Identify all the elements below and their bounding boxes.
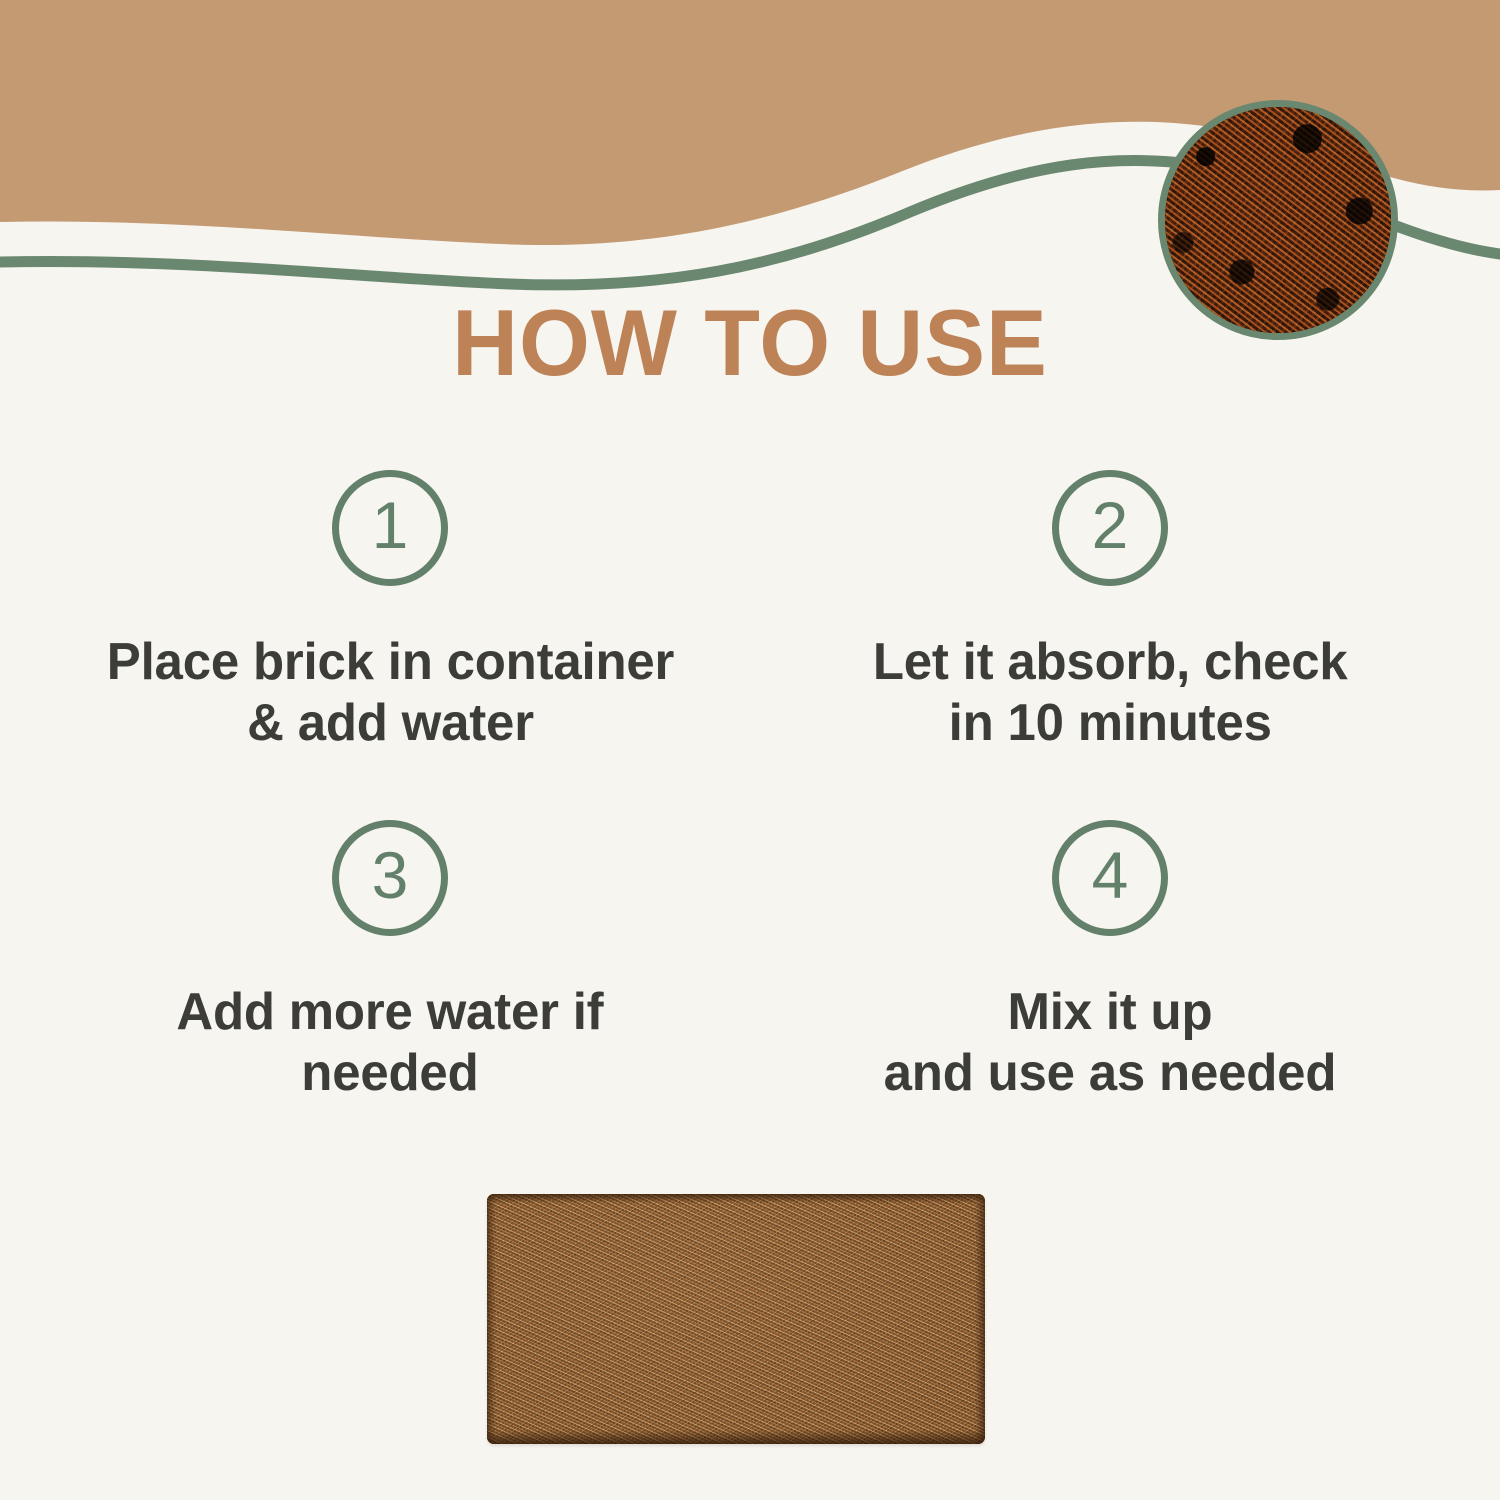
step-label-1: Place brick in container & add water [106,632,673,755]
step-label-3: Add more water if needed [176,982,603,1105]
steps-grid: 1 Place brick in container & add water 2… [40,470,1460,1170]
step-number-badge-4: 4 [1052,820,1168,936]
coir-brick-product-image [487,1194,985,1444]
coir-brick-texture [487,1194,985,1444]
coir-brick-edge-right [975,1194,985,1444]
page-title: HOW TO USE [23,296,1478,390]
coir-brick-edge-left [487,1194,496,1444]
step-number-badge-2: 2 [1052,470,1168,586]
step-number-badge-3: 3 [332,820,448,936]
step-number-4: 4 [1092,842,1129,908]
step-label-2: Let it absorb, check in 10 minutes [873,632,1348,755]
step-number-2: 2 [1092,492,1129,558]
step-item-4: 4 Mix it up and use as needed [760,820,1460,1170]
step-number-3: 3 [372,842,409,908]
step-number-badge-1: 1 [332,470,448,586]
step-item-2: 2 Let it absorb, check in 10 minutes [760,470,1460,820]
step-number-1: 1 [372,492,409,558]
how-to-use-infographic: HOW TO USE 1 Place brick in container & … [0,0,1500,1500]
step-label-4: Mix it up and use as needed [884,982,1337,1105]
step-item-1: 1 Place brick in container & add water [40,470,740,820]
coir-brick-edge-bottom [487,1430,985,1444]
step-item-3: 3 Add more water if needed [40,820,740,1170]
coir-brick-edge-top [487,1194,985,1203]
